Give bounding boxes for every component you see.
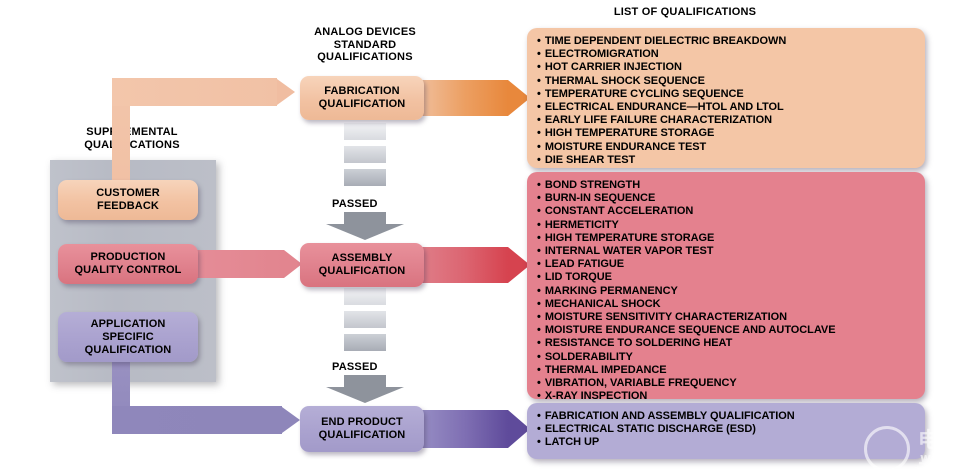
list-item: LEAD FATIGUE	[537, 258, 925, 271]
list-item: BURN-IN SEQUENCE	[537, 192, 925, 205]
connector-segment-2c	[344, 334, 386, 351]
passed-label-2: PASSED	[332, 361, 378, 373]
list-item: HIGH TEMPERATURE STORAGE	[537, 127, 925, 140]
passed-label-1: PASSED	[332, 198, 378, 210]
connector-segment-2b	[344, 311, 386, 328]
connector-segment-1c	[344, 169, 386, 186]
list-item: MARKING PERMANENCY	[537, 285, 925, 298]
connector-arrow-stem-2	[344, 375, 386, 387]
node-end-product-qualification[interactable]: END PRODUCT QUALIFICATION	[300, 406, 424, 452]
watermark-url: www.elecfans.com	[920, 451, 956, 465]
list-item: ELECTRICAL ENDURANCE—HTOL AND LTOL	[537, 101, 925, 114]
list-item: X-RAY INSPECTION	[537, 390, 925, 403]
list-item: THERMAL SHOCK SEQUENCE	[537, 75, 925, 88]
list-item: MOISTURE ENDURANCE TEST	[537, 141, 925, 154]
list-item: LATCH UP	[537, 436, 925, 449]
list-item: MOISTURE SENSITIVITY CHARACTERIZATION	[537, 311, 925, 324]
connector-segment-1a	[344, 123, 386, 140]
connector-segment-2a	[344, 288, 386, 305]
node-application-specific-qualification[interactable]: APPLICATION SPECIFIC QUALIFICATION	[58, 312, 198, 362]
list-item: ELECTROMIGRATION	[537, 48, 925, 61]
list-item: RESISTANCE TO SOLDERING HEAT	[537, 337, 925, 350]
list-item: HERMETICITY	[537, 219, 925, 232]
list-fabrication: TIME DEPENDENT DIELECTRIC BREAKDOWNELECT…	[537, 35, 925, 167]
heading-standard-qualifications: ANALOG DEVICES STANDARD QUALIFICATIONS	[300, 26, 430, 64]
list-item: TEMPERATURE CYCLING SEQUENCE	[537, 88, 925, 101]
list-end-product: FABRICATION AND ASSEMBLY QUALIFICATIONEL…	[537, 410, 925, 450]
node-assembly-qualification[interactable]: ASSEMBLY QUALIFICATION	[300, 243, 424, 287]
list-item: ELECTRICAL STATIC DISCHARGE (ESD)	[537, 423, 925, 436]
list-item: BOND STRENGTH	[537, 179, 925, 192]
list-item: FABRICATION AND ASSEMBLY QUALIFICATION	[537, 410, 925, 423]
arrow-shaft	[412, 80, 508, 116]
list-item: THERMAL IMPEDANCE	[537, 364, 925, 377]
list-item: MOISTURE ENDURANCE SEQUENCE AND AUTOCLAV…	[537, 324, 925, 337]
list-item: HOT CARRIER INJECTION	[537, 61, 925, 74]
list-item: EARLY LIFE FAILURE CHARACTERIZATION	[537, 114, 925, 127]
list-assembly: BOND STRENGTHBURN-IN SEQUENCECONSTANT AC…	[537, 179, 925, 403]
arrow-fabrication-to-list	[412, 80, 530, 116]
arrow-shaft	[412, 247, 508, 283]
arrow-segment-horizontal	[112, 78, 277, 106]
list-item: SOLDERABILITY	[537, 351, 925, 364]
arrow-application-specific-to-end-product	[112, 352, 302, 434]
connector-arrow-head-1	[326, 224, 404, 240]
list-item: CONSTANT ACCELERATION	[537, 205, 925, 218]
list-item: HIGH TEMPERATURE STORAGE	[537, 232, 925, 245]
diagram-canvas: ANALOG DEVICES STANDARD QUALIFICATIONS S…	[0, 0, 956, 475]
connector-arrow-stem-1	[344, 212, 386, 224]
node-fabrication-qualification[interactable]: FABRICATION QUALIFICATION	[300, 76, 424, 120]
list-item: MECHANICAL SHOCK	[537, 298, 925, 311]
node-customer-feedback[interactable]: CUSTOMER FEEDBACK	[58, 180, 198, 220]
arrow-shaft	[412, 410, 508, 448]
list-item: VIBRATION, VARIABLE FREQUENCY	[537, 377, 925, 390]
arrow-segment-horizontal	[112, 406, 282, 434]
list-item: TIME DEPENDENT DIELECTRIC BREAKDOWN	[537, 35, 925, 48]
list-item: LID TORQUE	[537, 271, 925, 284]
arrow-end-product-to-list	[412, 410, 530, 448]
connector-arrow-head-2	[326, 387, 404, 403]
arrow-assembly-to-list	[412, 247, 530, 283]
arrow-head	[282, 407, 300, 433]
list-item: INTERNAL WATER VAPOR TEST	[537, 245, 925, 258]
list-panel-fabrication: TIME DEPENDENT DIELECTRIC BREAKDOWNELECT…	[527, 28, 925, 168]
node-production-quality-control[interactable]: PRODUCTION QUALITY CONTROL	[58, 244, 198, 284]
list-panel-end-product: FABRICATION AND ASSEMBLY QUALIFICATIONEL…	[527, 403, 925, 459]
heading-list-of-qualifications: LIST OF QUALIFICATIONS	[595, 6, 775, 19]
list-panel-assembly: BOND STRENGTHBURN-IN SEQUENCECONSTANT AC…	[527, 172, 925, 399]
list-item: DIE SHEAR TEST	[537, 154, 925, 167]
arrow-head	[277, 79, 295, 105]
connector-segment-1b	[344, 146, 386, 163]
